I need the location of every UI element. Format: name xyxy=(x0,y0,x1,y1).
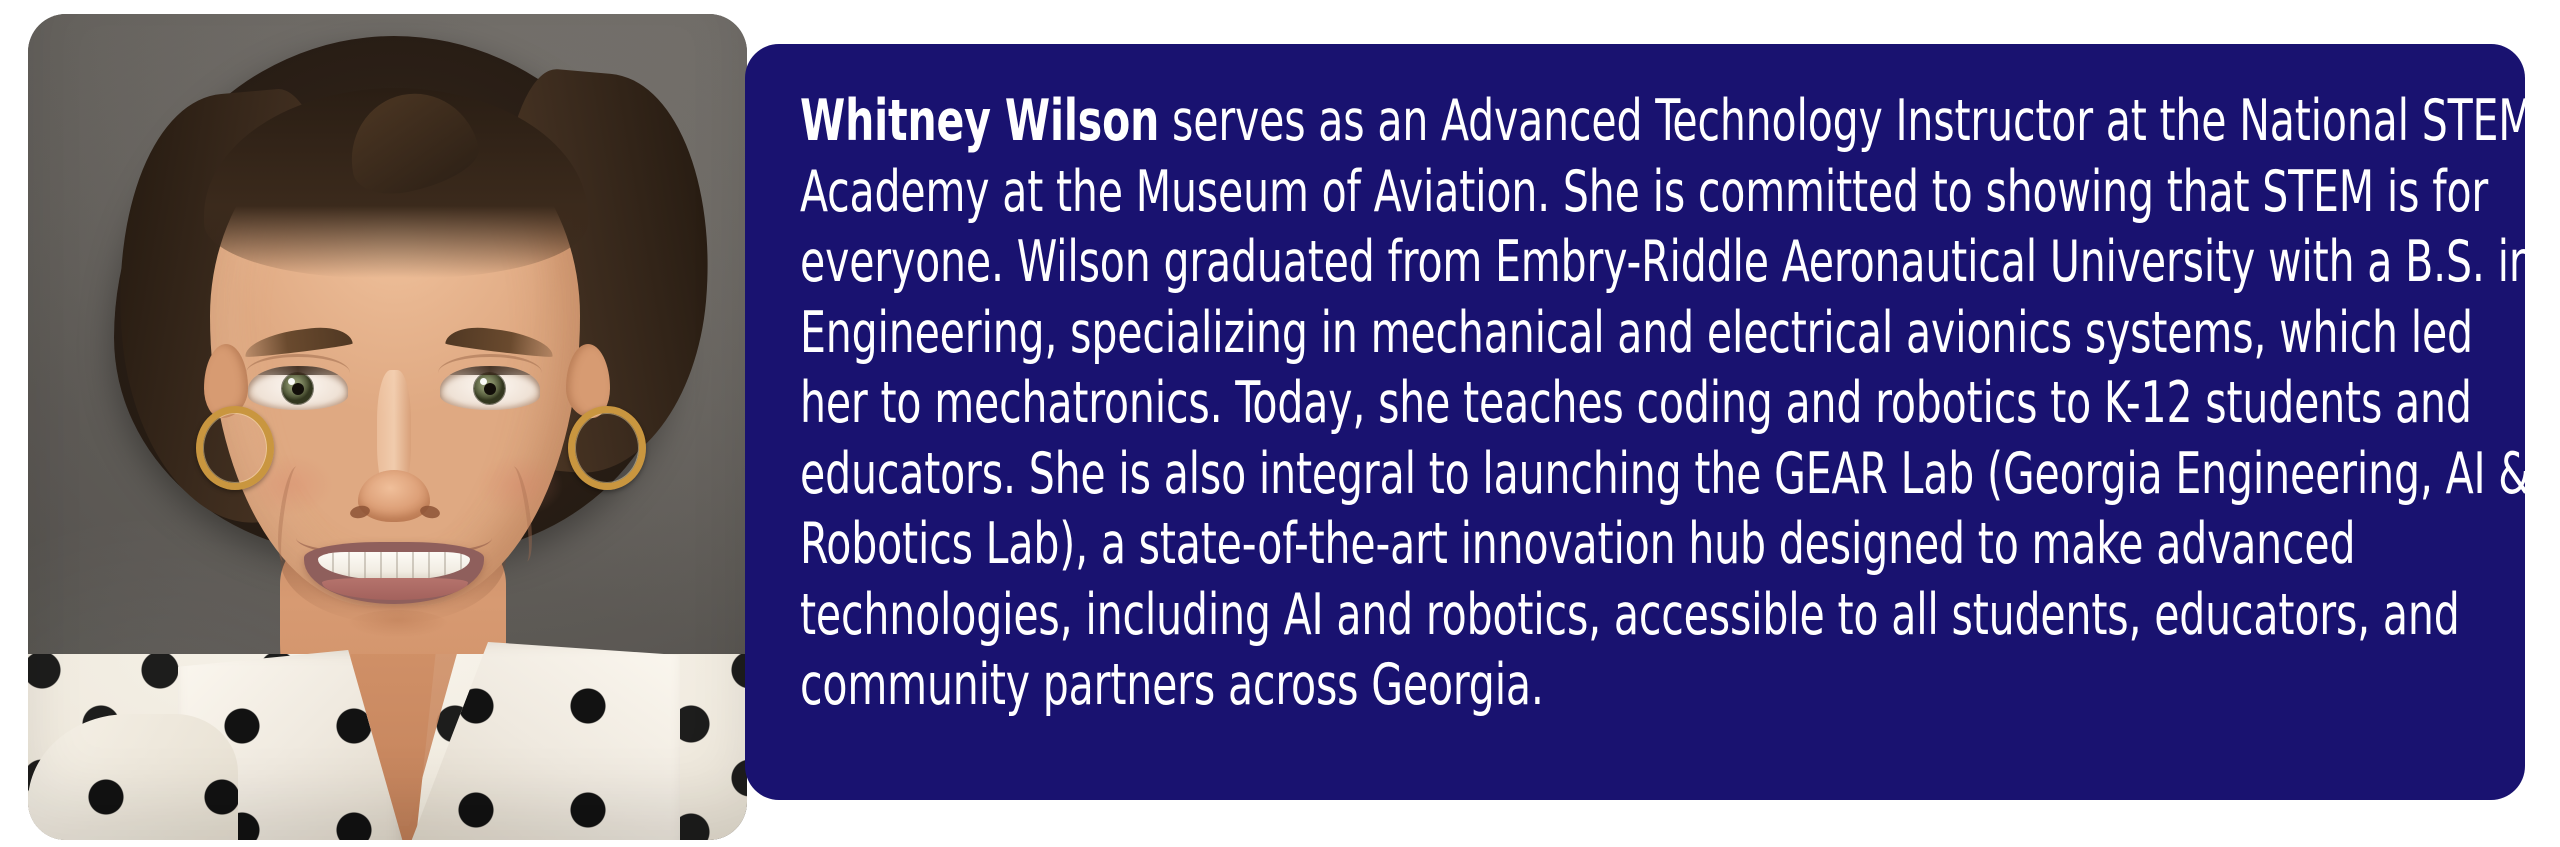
bio-paragraph: Whitney Wilson serves as an Advanced Tec… xyxy=(800,86,2544,721)
gold-hoop-earring-left-icon xyxy=(196,406,274,490)
bio-text-panel: Whitney Wilson serves as an Advanced Tec… xyxy=(745,44,2525,800)
chin-shadow xyxy=(346,610,450,644)
eye-glint-right xyxy=(480,378,487,385)
bio-lead-name: Whitney Wilson xyxy=(800,88,1159,154)
teeth xyxy=(318,552,470,580)
portrait-photo xyxy=(28,14,747,840)
gold-hoop-earring-right-icon xyxy=(568,406,646,490)
pupil-right xyxy=(484,383,496,395)
pupil-left xyxy=(292,383,304,395)
eye-glint-left xyxy=(288,378,295,385)
bio-body-text: serves as an Advanced Technology Instruc… xyxy=(800,88,2535,718)
